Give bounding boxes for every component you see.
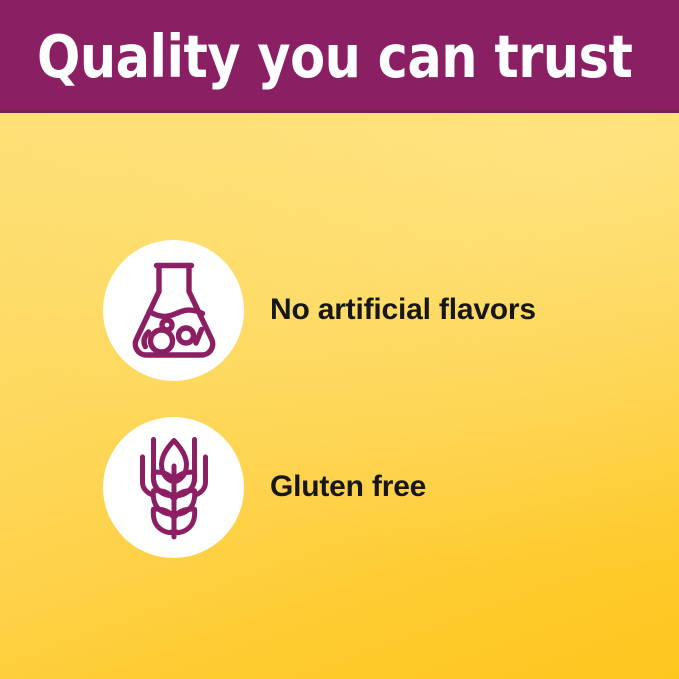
feature-label: Gluten free — [270, 470, 426, 504]
flask-icon — [126, 257, 222, 363]
quality-infographic: Quality you can trust — [0, 0, 679, 679]
feature-label: No artificial flavors — [270, 293, 536, 327]
wheat-icon — [131, 433, 217, 541]
feature-row: No artificial flavors — [0, 239, 679, 381]
page-title: Quality you can trust — [37, 22, 632, 92]
icon-badge-flask — [103, 240, 244, 381]
icon-badge-wheat — [103, 417, 244, 558]
header-band-edge — [0, 110, 679, 113]
feature-row: Gluten free — [0, 416, 679, 558]
